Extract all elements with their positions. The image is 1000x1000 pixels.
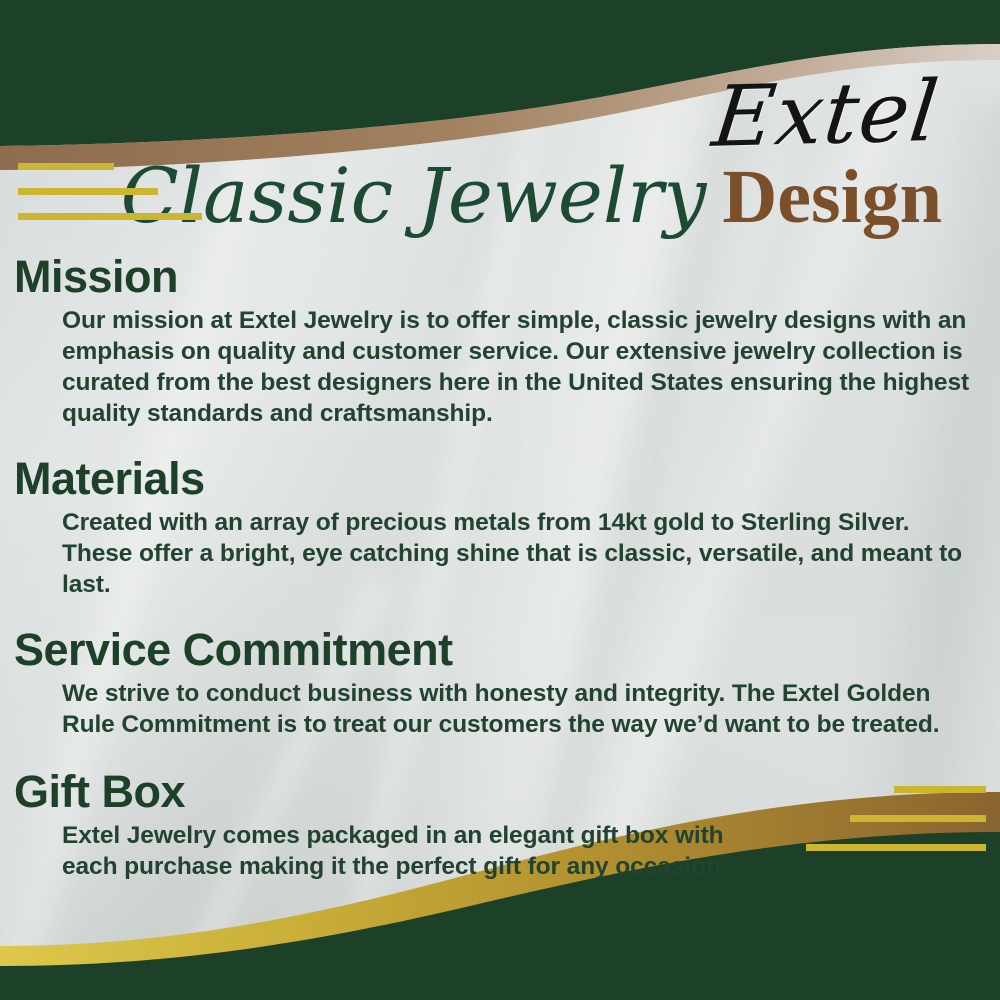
gold-bar-1 bbox=[18, 163, 114, 170]
section-body-gift-box: Extel Jewelry comes packaged in an elega… bbox=[0, 821, 1000, 883]
section-body-materials: Created with an array of precious metals… bbox=[0, 508, 1000, 601]
title-serif-part: Design bbox=[722, 159, 942, 235]
section-heading-mission: Mission bbox=[0, 252, 1000, 302]
gold-bar-3 bbox=[18, 213, 202, 220]
section-gift-box: Gift Box Extel Jewelry comes packaged in… bbox=[0, 767, 1000, 883]
section-materials: Materials Created with an array of preci… bbox=[0, 454, 1000, 601]
brand-logo-extel: Extel bbox=[709, 69, 943, 159]
section-mission: Mission Our mission at Extel Jewelry is … bbox=[0, 252, 1000, 430]
section-body-mission: Our mission at Extel Jewelry is to offer… bbox=[0, 306, 1000, 429]
title-script-part: Classic Jewelry bbox=[121, 158, 707, 234]
section-body-service-commitment: We strive to conduct business with hones… bbox=[0, 679, 1000, 741]
section-service-commitment: Service Commitment We strive to conduct … bbox=[0, 625, 1000, 741]
gold-bar-2 bbox=[18, 188, 158, 195]
left-gold-bars bbox=[18, 163, 202, 238]
poster-canvas: Extel Classic Jewelry Design Mission Our… bbox=[0, 0, 1000, 1000]
section-heading-materials: Materials bbox=[0, 454, 1000, 504]
section-heading-gift-box: Gift Box bbox=[0, 767, 1000, 817]
content-sections: Mission Our mission at Extel Jewelry is … bbox=[0, 252, 1000, 889]
section-heading-service-commitment: Service Commitment bbox=[0, 625, 1000, 675]
